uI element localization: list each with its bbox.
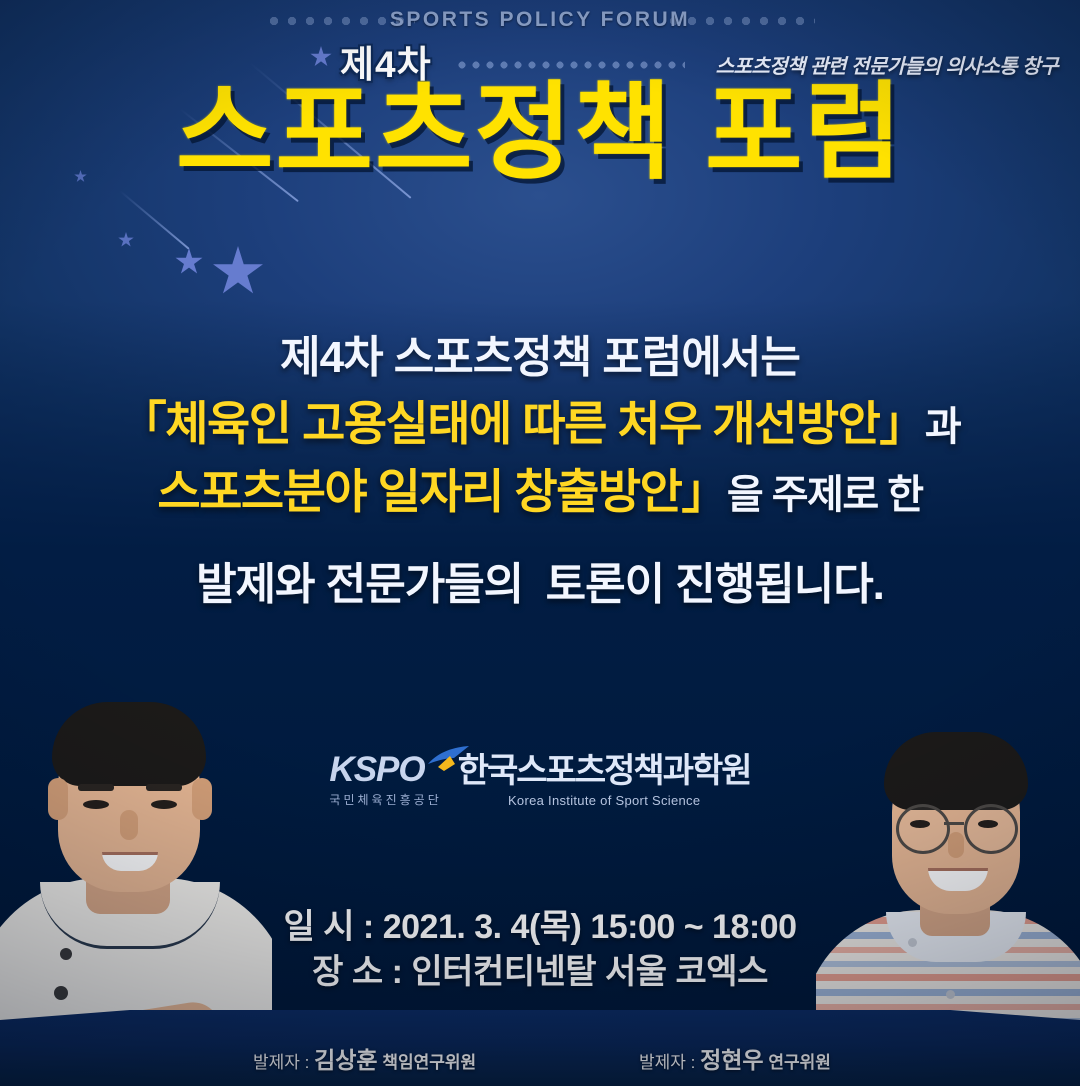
footer-band xyxy=(0,1010,1080,1086)
poster-body-copy: 제4차 스포츠정책 포럼에서는 「체육인 고용실태에 따른 처우 개선방안」과 … xyxy=(0,330,1080,613)
presenter-right-title: 연구위원 xyxy=(768,1053,831,1072)
portrait-left-eye xyxy=(83,800,109,809)
glasses-icon xyxy=(964,804,1018,854)
poster-title: 스포츠정책 포럼 xyxy=(0,78,1080,189)
sports-policy-forum-poster: 제4차 스포츠정책 관련 전문가들의 의사소통 창구 스포츠정책 포럼 제4차 … xyxy=(0,0,1080,1086)
portrait-left-ear xyxy=(192,778,212,820)
kspo-korean-name: 국민체육진흥공단 xyxy=(329,791,441,808)
institute-logo: 한국스포츠정책과학원 Korea Institute of Sport Scie… xyxy=(458,752,751,808)
topic-one: 「체육인 고용실태에 따른 처우 개선방안」 xyxy=(120,397,925,450)
portrait-right-nose xyxy=(948,832,964,858)
glasses-bridge-icon xyxy=(944,822,964,825)
header-dotted-rule xyxy=(455,60,685,70)
portrait-right-hair xyxy=(884,732,1028,810)
presenter-right-name: 정현우 xyxy=(700,1047,763,1073)
portrait-left-eye xyxy=(151,800,177,809)
portrait-left-brow xyxy=(146,784,182,791)
portrait-right-button xyxy=(908,938,917,947)
copy-line-1: 제4차 스포츠정책 포럼에서는 xyxy=(0,330,1080,386)
copy-line-4: 발제와 전문가들의 토론이 진행됩니다. xyxy=(0,557,1080,613)
footer-band-title: SPORTS POLICY FORUM xyxy=(0,8,1080,32)
portrait-right-eye xyxy=(910,820,930,828)
portrait-left-ear xyxy=(48,778,68,820)
copy-line-3: 스포츠분야 일자리 창출방안」을 주제로 한 xyxy=(0,462,1080,522)
portrait-left-button xyxy=(60,948,72,960)
portrait-left-button xyxy=(54,986,68,1000)
datetime-label: 일 시 : xyxy=(283,908,373,946)
presenter-left-role-label: 발제자 : xyxy=(253,1053,309,1072)
portrait-left-nose xyxy=(120,810,138,840)
glasses-icon xyxy=(896,804,950,854)
presenter-left-name: 김상훈 xyxy=(314,1047,377,1073)
venue-value: 인터컨티넨탈 서울 코엑스 xyxy=(411,953,767,991)
portrait-right-button xyxy=(946,990,955,999)
kspo-swoosh-icon xyxy=(424,746,470,772)
venue-label: 장 소 : xyxy=(312,953,402,991)
presenter-left-title: 책임연구위원 xyxy=(382,1053,476,1072)
topic-one-suffix: 과 xyxy=(925,405,960,449)
institute-korean-name: 한국스포츠정책과학원 xyxy=(458,754,751,788)
presenter-caption-right: 발제자 : 정현우 연구위원 xyxy=(639,1041,831,1075)
institute-english-name: Korea Institute of Sport Science xyxy=(458,793,751,808)
presenter-right-role-label: 발제자 : xyxy=(639,1053,695,1072)
copy-line-2: 「체육인 고용실태에 따른 처우 개선방안」과 xyxy=(0,394,1080,454)
portrait-right-eye xyxy=(978,820,998,828)
topic-two: 스포츠분야 일자리 창출방안」 xyxy=(157,465,727,518)
portrait-left-hair xyxy=(52,702,206,786)
presenter-caption-left: 발제자 : 김상훈 책임연구위원 xyxy=(253,1041,476,1075)
topic-two-suffix: 을 주제로 한 xyxy=(727,473,923,517)
datetime-value: 2021. 3. 4(목) 15:00 ~ 18:00 xyxy=(383,908,797,946)
kspo-logo: KSPO 국민체육진흥공단 xyxy=(329,752,447,808)
portrait-left-brow xyxy=(78,784,114,791)
